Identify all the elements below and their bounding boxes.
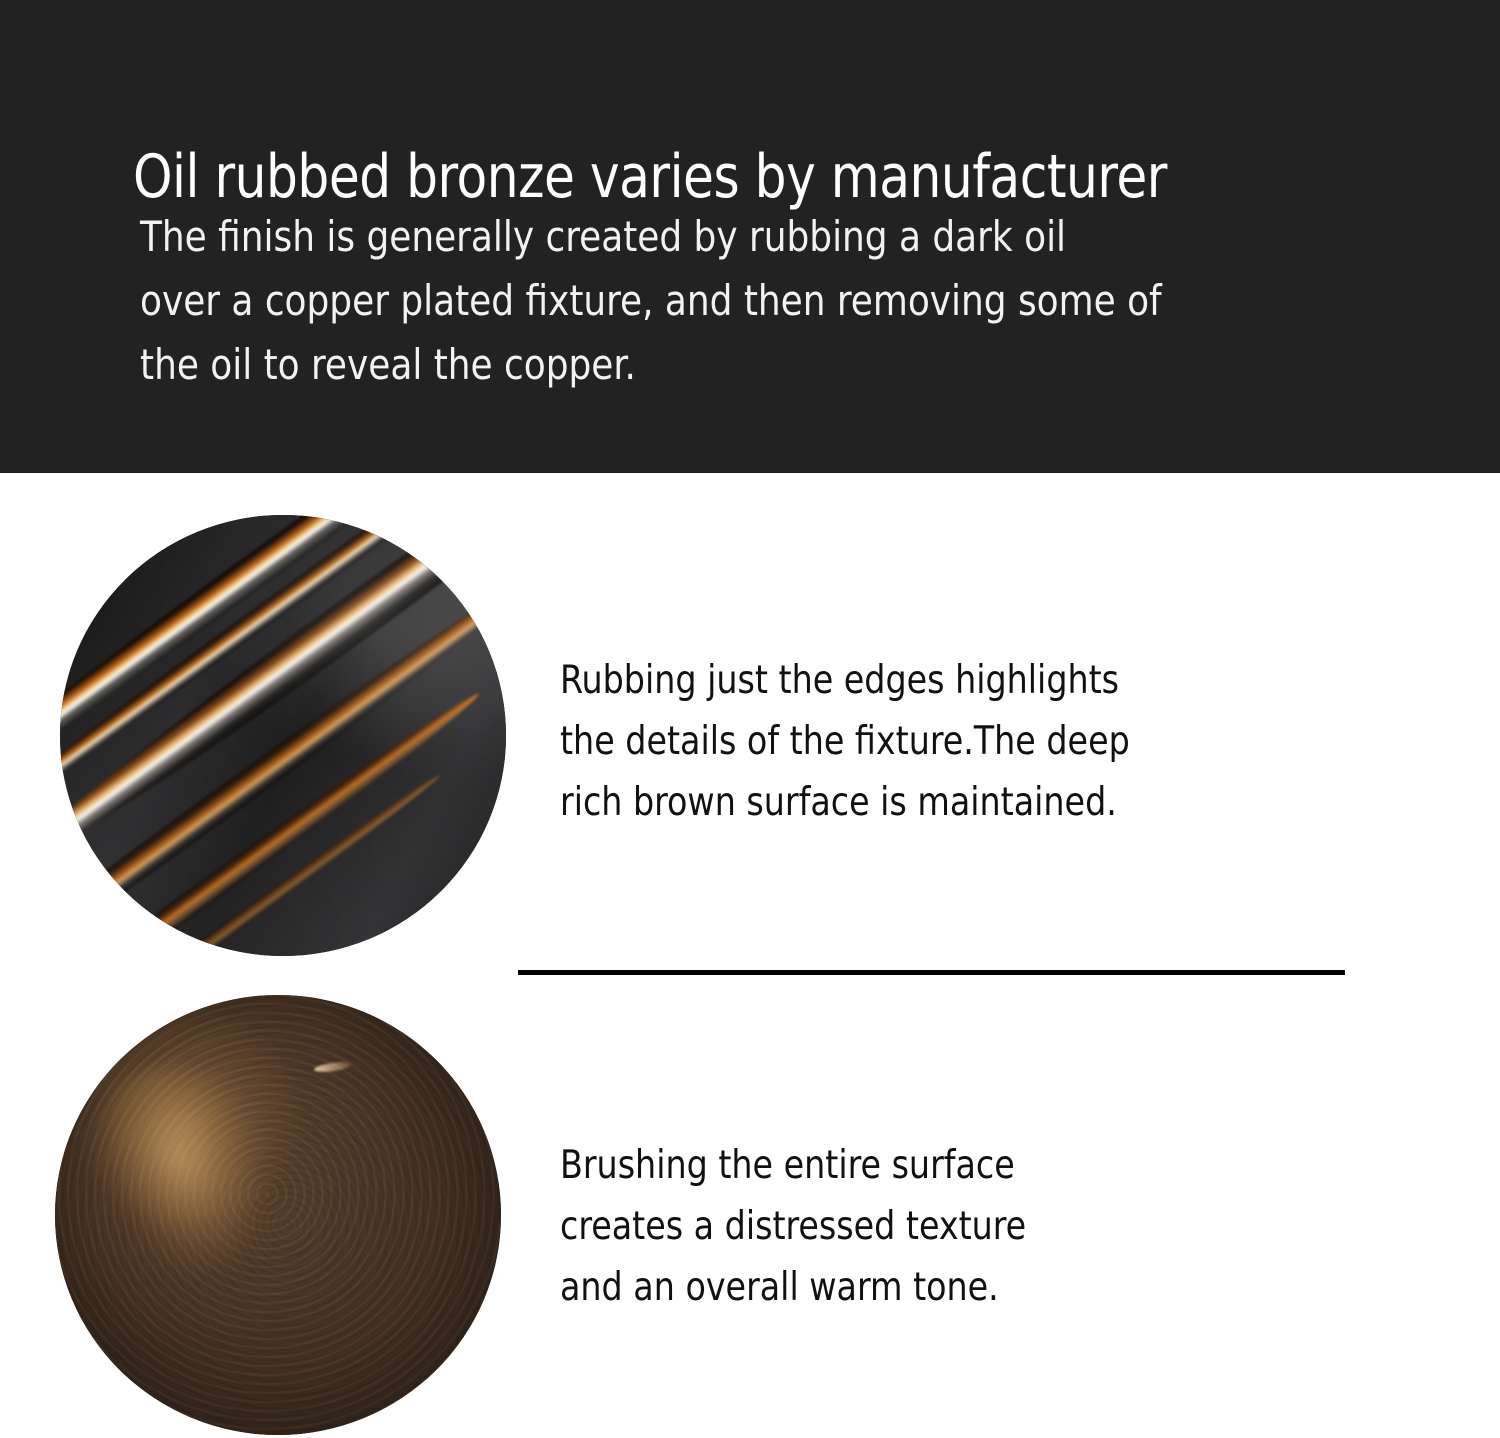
brushed-swatch-vignette: [55, 995, 501, 1435]
subtitle-line-2: over a copper plated fixture, and then r…: [140, 269, 1162, 333]
caption-line-2: creates a distressed texture: [560, 1196, 1026, 1257]
content-area: Rubbing just the edges highlights the de…: [0, 473, 1500, 1438]
caption-line-2: the details of the fixture.The deep: [560, 711, 1130, 772]
caption-line-3: rich brown surface is maintained.: [560, 772, 1130, 833]
subtitle-line-3: the oil to reveal the copper.: [140, 333, 1162, 397]
subtitle-line-1: The finish is generally created by rubbi…: [140, 205, 1162, 269]
brushed-distressed-bronze-swatch: [55, 995, 501, 1435]
section-divider: [518, 970, 1345, 975]
brushed-swatch-caption: Brushing the entire surface creates a di…: [560, 1135, 1026, 1318]
caption-line-1: Rubbing just the edges highlights: [560, 650, 1130, 711]
glossy-swatch-caption: Rubbing just the edges highlights the de…: [560, 650, 1130, 833]
caption-line-1: Brushing the entire surface: [560, 1135, 1026, 1196]
page-title: Oil rubbed bronze varies by manufacturer: [133, 144, 1167, 210]
glossy-oil-rubbed-bronze-swatch: [60, 515, 506, 956]
header-band: Oil rubbed bronze varies by manufacturer…: [0, 0, 1500, 473]
caption-line-3: and an overall warm tone.: [560, 1257, 1026, 1318]
glossy-swatch-sheen: [60, 515, 506, 956]
header-subtitle: The finish is generally created by rubbi…: [140, 205, 1162, 397]
